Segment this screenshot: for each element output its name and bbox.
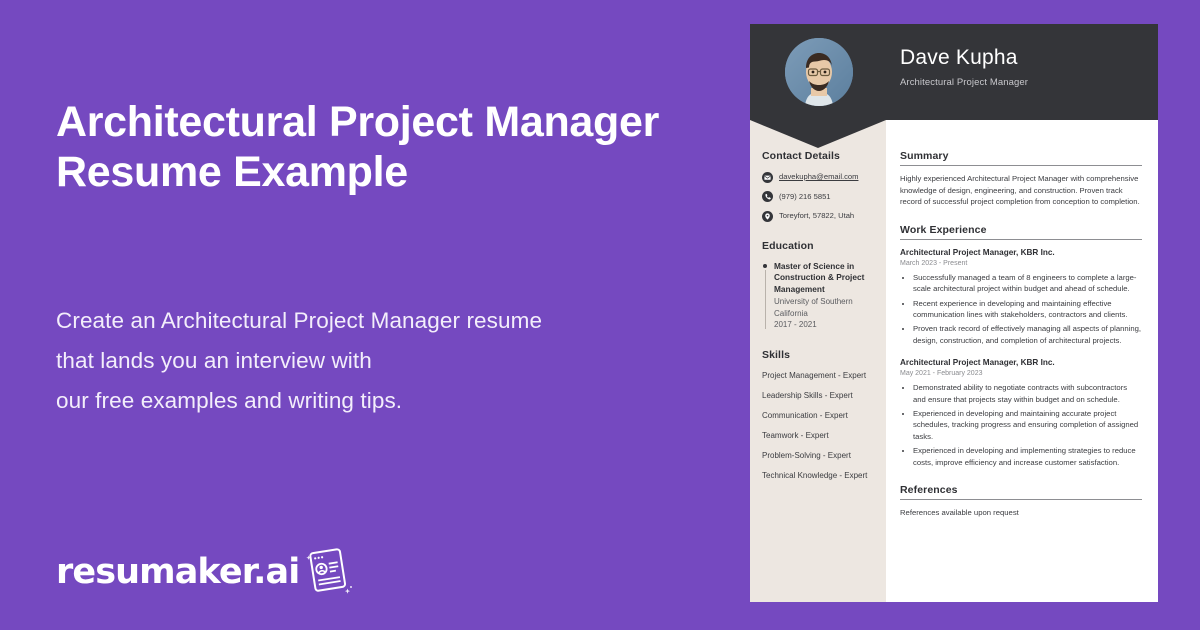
summary-section: Summary Highly experienced Architectural… xyxy=(900,150,1142,208)
job-bullets: Successfully managed a team of 8 enginee… xyxy=(900,272,1142,346)
contact-location: Toreyfort, 57822, Utah xyxy=(779,210,854,221)
skill-item: Problem-Solving - Expert xyxy=(762,450,880,461)
education-degree: Master of Science in Construction & Proj… xyxy=(774,261,880,296)
skills-heading: Skills xyxy=(762,349,880,361)
education-section: Education Master of Science in Construct… xyxy=(762,240,880,331)
resume-preview-card[interactable]: Contact Details davekupha@email.com xyxy=(750,24,1158,602)
job-entry: Architectural Project Manager, KBR Inc. … xyxy=(900,357,1142,468)
references-section: References References available upon req… xyxy=(900,484,1142,519)
job-bullet: Proven track record of effectively manag… xyxy=(913,323,1142,346)
resume-header-band: Dave Kupha Architectural Project Manager xyxy=(750,24,1158,120)
education-heading: Education xyxy=(762,240,880,252)
contact-details-heading: Contact Details xyxy=(762,150,880,162)
job-title: Architectural Project Manager, KBR Inc. xyxy=(900,357,1142,368)
contact-email[interactable]: davekupha@email.com xyxy=(779,171,858,182)
promo-title: Architectural Project Manager Resume Exa… xyxy=(56,97,676,197)
logo-wordmark: resumaker.ai xyxy=(56,552,299,592)
avatar xyxy=(785,38,853,106)
promo-banner: Architectural Project Manager Resume Exa… xyxy=(0,0,1200,630)
job-bullet: Successfully managed a team of 8 enginee… xyxy=(913,272,1142,295)
job-bullet: Recent experience in developing and main… xyxy=(913,298,1142,321)
contact-row-location: Toreyfort, 57822, Utah xyxy=(762,210,880,222)
promo-subtitle: Create an Architectural Project Manager … xyxy=(56,301,676,421)
promo-subtitle-line-1: Create an Architectural Project Manager … xyxy=(56,301,676,341)
location-pin-icon xyxy=(762,211,773,222)
references-heading: References xyxy=(900,484,1142,500)
education-school: University of Southern California xyxy=(774,296,880,319)
education-years: 2017 - 2021 xyxy=(774,319,880,331)
summary-heading: Summary xyxy=(900,150,1142,166)
resume-name: Dave Kupha xyxy=(900,46,1018,70)
summary-text: Highly experienced Architectural Project… xyxy=(900,173,1142,208)
skill-item: Teamwork - Expert xyxy=(762,430,880,441)
skill-item: Project Management - Expert xyxy=(762,370,880,381)
resume-role: Architectural Project Manager xyxy=(900,77,1028,88)
job-date: May 2021 - February 2023 xyxy=(900,368,1142,379)
resume-body: Contact Details davekupha@email.com xyxy=(750,24,1158,602)
contact-row-email[interactable]: davekupha@email.com xyxy=(762,171,880,183)
education-item: Master of Science in Construction & Proj… xyxy=(762,261,880,331)
main-content: Summary Highly experienced Architectural… xyxy=(900,150,1142,535)
job-bullet: Demonstrated ability to negotiate contra… xyxy=(913,382,1142,405)
promo-subtitle-line-3: our free examples and writing tips. xyxy=(56,381,676,421)
skill-item: Leadership Skills - Expert xyxy=(762,390,880,401)
skill-item: Communication - Expert xyxy=(762,410,880,421)
skills-section: Skills Project Management - Expert Leade… xyxy=(762,349,880,481)
header-chevron-shape xyxy=(750,120,886,148)
contact-row-phone[interactable]: (979) 216 5851 xyxy=(762,191,880,203)
job-bullet: Experienced in developing and implementi… xyxy=(913,445,1142,468)
references-text: References available upon request xyxy=(900,507,1142,519)
resumaker-logo[interactable]: resumaker.ai xyxy=(56,548,354,596)
contact-phone: (979) 216 5851 xyxy=(779,191,831,202)
promo-subtitle-line-2: that lands you an interview with xyxy=(56,341,676,381)
resume-document-icon xyxy=(302,547,354,597)
job-bullets: Demonstrated ability to negotiate contra… xyxy=(900,382,1142,468)
job-bullet: Experienced in developing and maintainin… xyxy=(913,408,1142,442)
skill-item: Technical Knowledge - Expert xyxy=(762,470,880,481)
job-title: Architectural Project Manager, KBR Inc. xyxy=(900,247,1142,258)
sidebar-content: Contact Details davekupha@email.com xyxy=(762,150,880,499)
job-date: March 2023 - Present xyxy=(900,258,1142,269)
promo-copy-panel: Architectural Project Manager Resume Exa… xyxy=(56,0,706,630)
phone-icon xyxy=(762,191,773,202)
envelope-icon xyxy=(762,172,773,183)
contact-details-section: Contact Details davekupha@email.com xyxy=(762,150,880,222)
work-experience-section: Work Experience Architectural Project Ma… xyxy=(900,224,1142,468)
work-experience-heading: Work Experience xyxy=(900,224,1142,240)
job-entry: Architectural Project Manager, KBR Inc. … xyxy=(900,247,1142,346)
